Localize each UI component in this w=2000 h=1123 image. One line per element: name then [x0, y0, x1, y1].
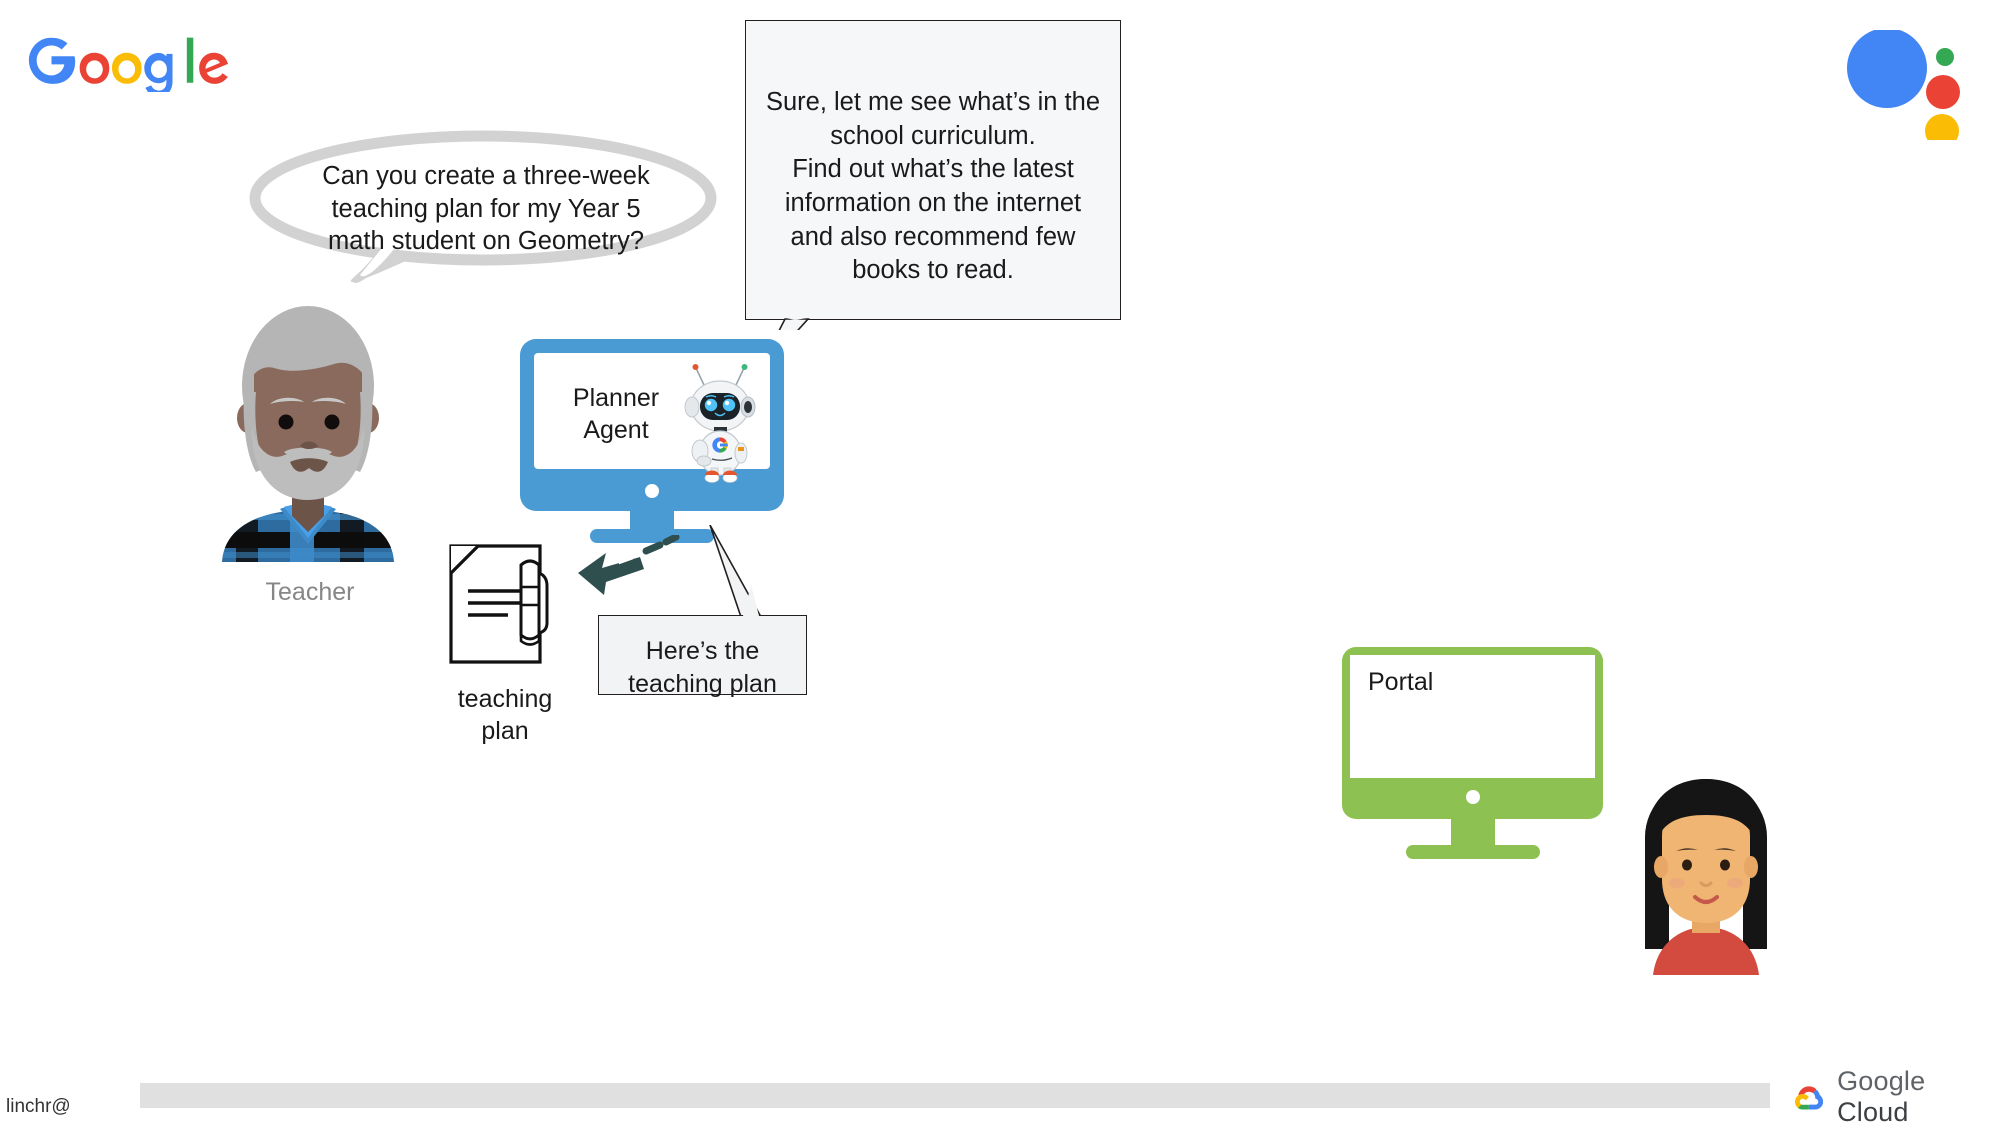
google-cloud-logo: Google Cloud [1795, 1077, 1995, 1117]
planner-label-line2: Agent [556, 414, 676, 446]
agent-speech-bubble: Sure, let me see what’s in the school cu… [745, 20, 1123, 325]
plan-reply-bubble: Here’s the teaching plan [598, 525, 813, 715]
footer-username: linchr@ [6, 1096, 71, 1118]
agent-bubble-text: Sure, let me see what’s in the school cu… [765, 86, 1101, 288]
google-cloud-logo-text: Google Cloud [1837, 1066, 1995, 1123]
teacher-bubble-text: Can you create a three-week teaching pla… [306, 160, 666, 258]
gcloud-text-google: Google [1837, 1066, 1925, 1096]
google-logo [28, 22, 228, 92]
document-with-pen-icon [448, 543, 556, 665]
google-assistant-dots-icon [1845, 30, 1965, 140]
agent-bubble-line: and also recommend few [765, 221, 1101, 255]
footer-progress-bar [140, 1083, 1770, 1108]
teacher-avatar-icon [222, 300, 394, 562]
planner-agent-label: Planner Agent [556, 382, 676, 446]
planner-label-line1: Planner [556, 382, 676, 414]
portal-label: Portal [1368, 668, 1433, 697]
agent-bubble-line: Sure, let me see what’s in the [765, 86, 1101, 120]
teaching-plan-label-line2: plan [420, 715, 590, 747]
agent-bubble-line: information on the internet [765, 187, 1101, 221]
gcloud-text-cloud: Cloud [1837, 1097, 1909, 1123]
teacher-label: Teacher [200, 578, 420, 607]
slide-canvas: Can you create a three-week teaching pla… [0, 0, 2000, 1123]
plan-reply-line1: Here’s the [606, 635, 799, 668]
teaching-plan-label: teaching plan [420, 683, 590, 747]
teaching-plan-label-line1: teaching [420, 683, 590, 715]
student-avatar-icon [1635, 775, 1777, 975]
agent-bubble-line: books to read. [765, 254, 1101, 288]
agent-bubble-line: school curriculum. [765, 120, 1101, 154]
plan-reply-text: Here’s the teaching plan [606, 635, 799, 700]
planner-robot-icon [678, 363, 763, 483]
plan-reply-line2: teaching plan [606, 668, 799, 701]
agent-bubble-line: Find out what’s the latest [765, 153, 1101, 187]
teacher-speech-bubble: Can you create a three-week teaching pla… [248, 128, 718, 293]
